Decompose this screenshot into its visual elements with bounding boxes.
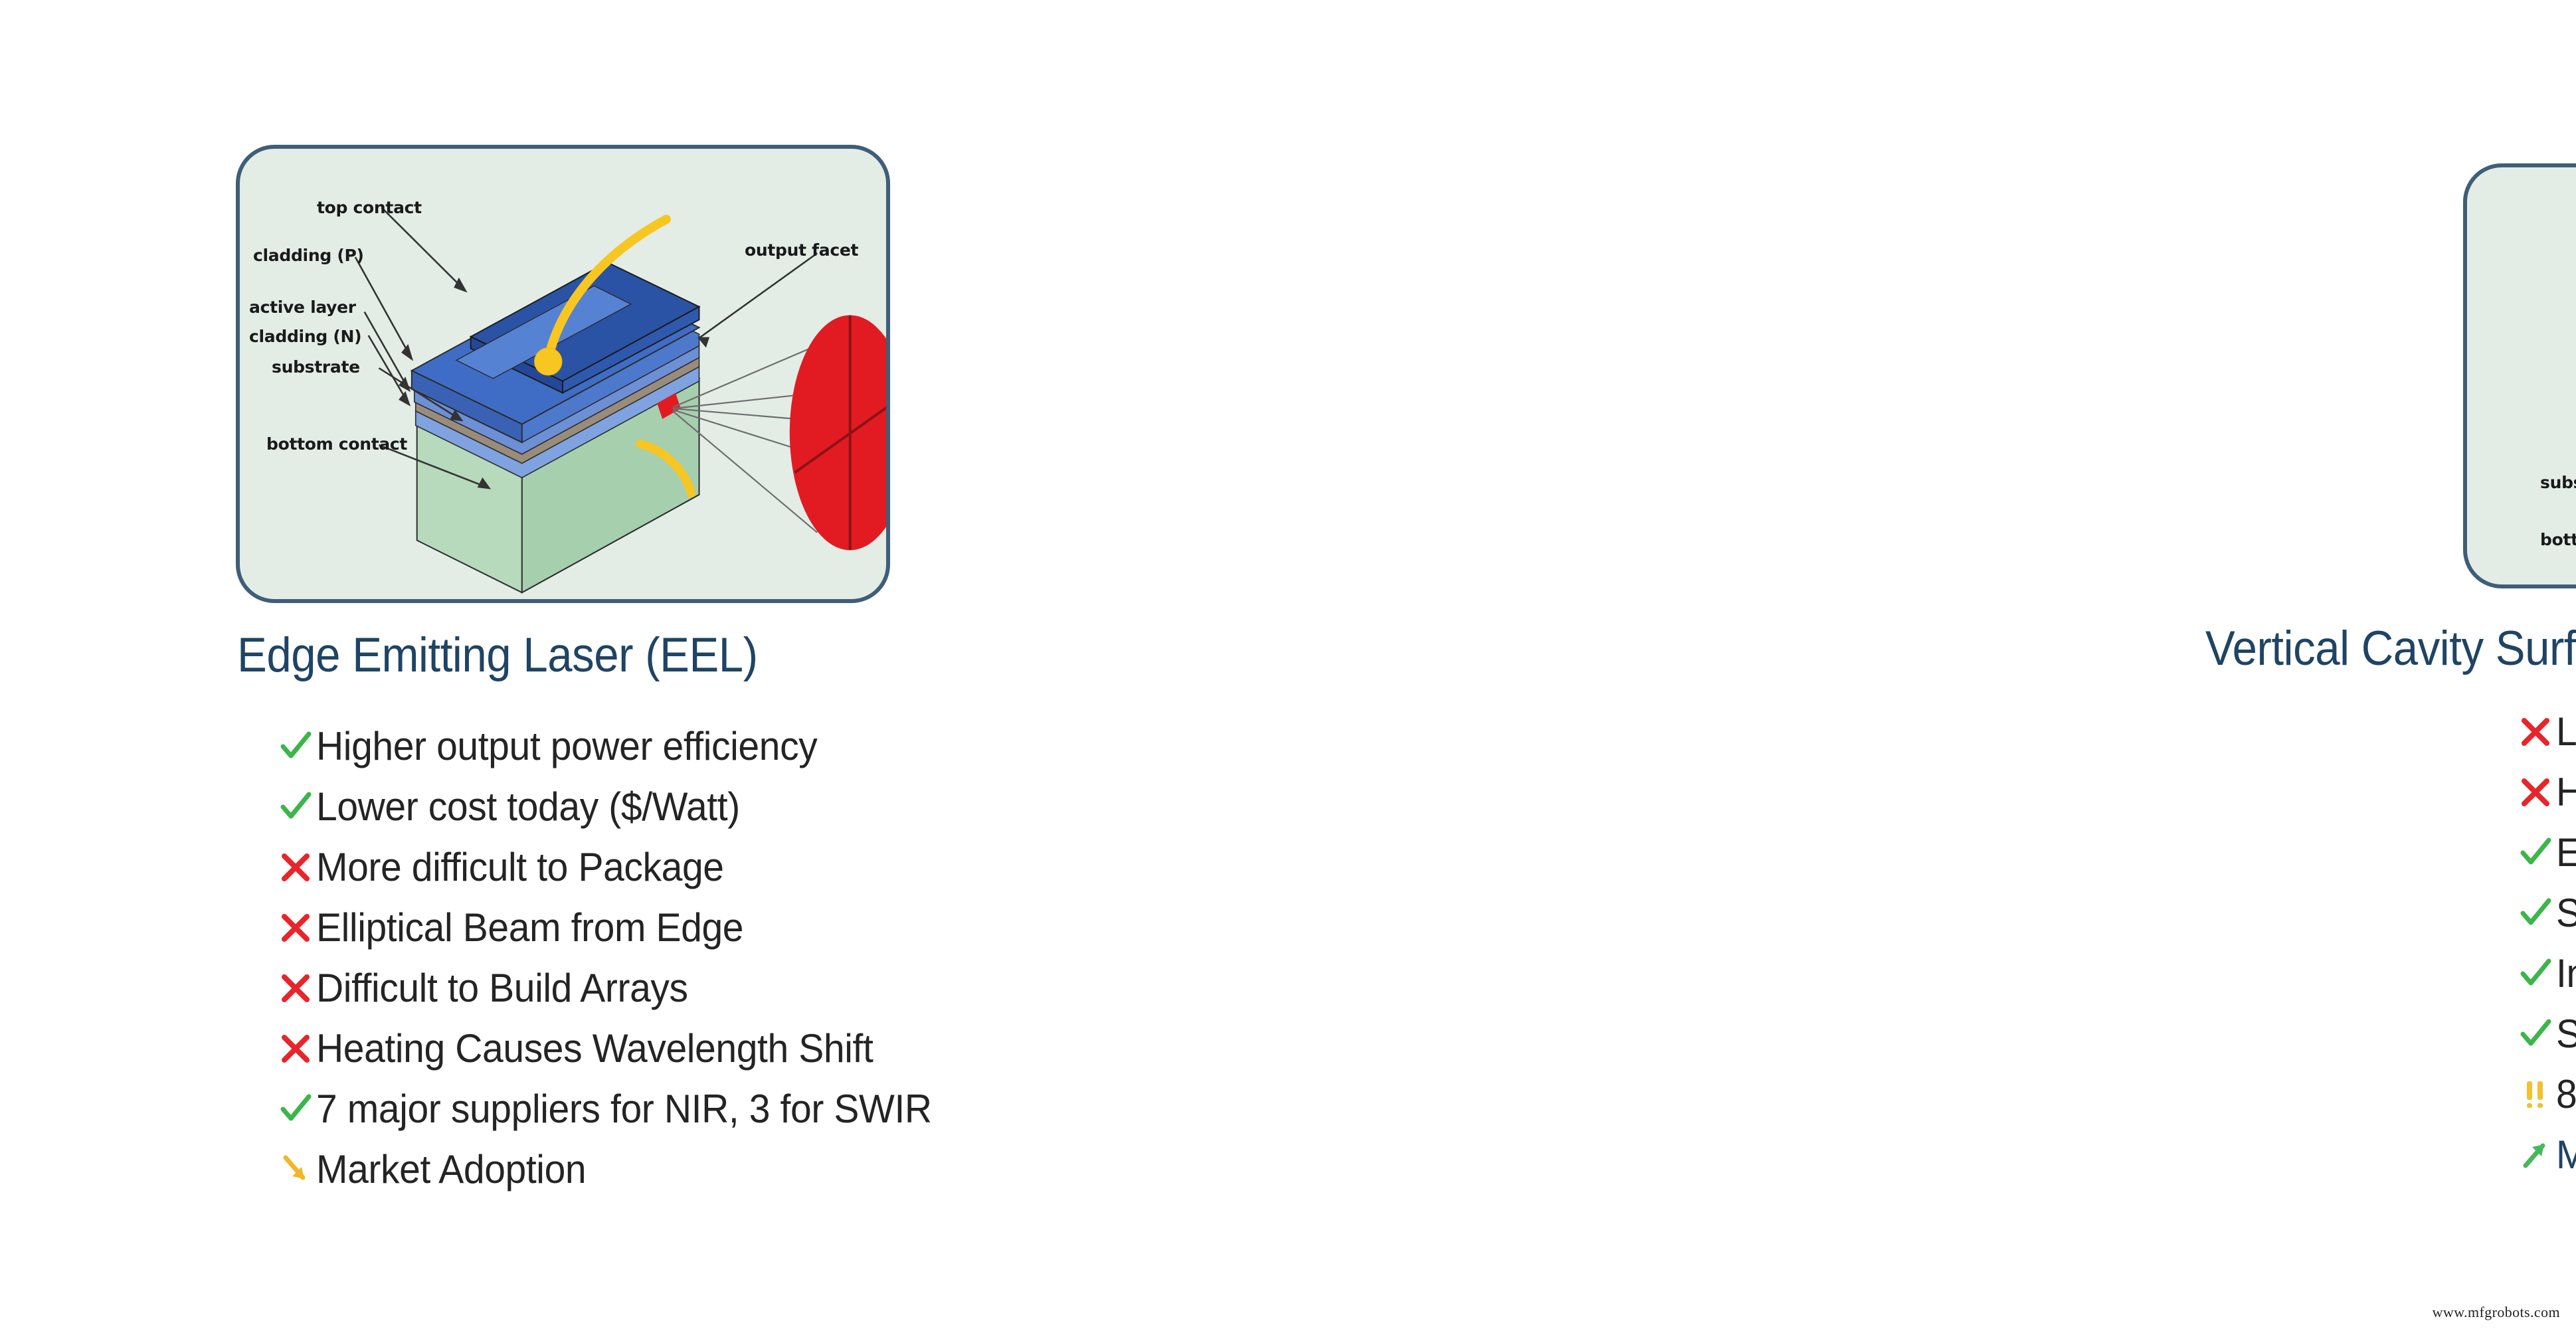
list-item: More difficult to Package	[279, 837, 964, 897]
vcsel-bullet-list: Lower output power efficiency Higher cos…	[2519, 701, 2576, 1185]
check-icon	[279, 1079, 316, 1139]
list-item: Market Adoption	[2519, 1124, 2576, 1185]
cross-icon	[279, 1018, 316, 1079]
list-item: Easier to Package	[2519, 822, 2576, 883]
cross-icon	[279, 837, 316, 897]
list-item-label: Symmetrical Beam from Surface	[2556, 883, 2576, 943]
cross-icon	[279, 897, 316, 958]
eel-title: Edge Emitting Laser (EEL)	[237, 628, 758, 683]
list-item: Higher output power efficiency	[279, 716, 964, 776]
list-item-label: More difficult to Package	[316, 837, 724, 897]
cross-icon	[2519, 762, 2556, 822]
diagram-label-bottom-contact: bottom contact	[2540, 530, 2576, 549]
list-item: Market Adoption	[279, 1139, 964, 1199]
check-icon	[279, 776, 316, 837]
arrow-up-right-icon	[2519, 1124, 2556, 1185]
list-item: Lower output power efficiency	[2519, 701, 2576, 762]
diagram-label-bottom-contact: bottom contact	[266, 434, 407, 454]
list-item: Integrated Arrays Available	[2519, 943, 2576, 1004]
diagram-label-output-facet: output facet	[745, 240, 858, 260]
watermark: www.mfgrobots.com	[2433, 1304, 2560, 1321]
eel-diagram-card: top contact cladding (P) output facet ac…	[236, 145, 890, 603]
list-item-label: Market Adoption	[2556, 1124, 2576, 1185]
diagram-label-substrate: substrate	[2540, 473, 2576, 492]
arrow-down-right-icon	[279, 1139, 316, 1199]
cross-icon	[2519, 701, 2556, 762]
list-item-label: Lower output power efficiency	[2556, 701, 2576, 762]
list-item: Difficult to Build Arrays	[279, 958, 964, 1018]
double-exclamation-icon	[2519, 1064, 2556, 1124]
list-item-label: Difficult to Build Arrays	[316, 958, 688, 1018]
check-icon	[279, 716, 316, 776]
list-item: Higher cost today ($/Watt)	[2519, 762, 2576, 822]
diagram-label-cladding-p: cladding (P)	[253, 246, 364, 265]
vcsel-diagram-card: top contact grating mirrors active layer…	[2463, 163, 2576, 588]
diagram-label-top-contact: top contact	[317, 198, 422, 217]
check-icon	[2519, 1004, 2556, 1064]
eel-bullet-list: Higher output power efficiency Lower cos…	[279, 716, 964, 1199]
diagram-label-cladding-n: cladding (N)	[249, 327, 361, 346]
diagram-label-active-layer: active layer	[249, 298, 356, 317]
list-item-label: Lower cost today ($/Watt)	[316, 776, 740, 837]
list-item-label: Higher output power efficiency	[316, 716, 817, 776]
list-item-label: 8 major suppliers for NIR, only 1 for SW…	[2556, 1064, 2576, 1124]
diagram-label-substrate: substrate	[272, 357, 360, 377]
list-item-label: 7 major suppliers for NIR, 3 for SWIR	[316, 1079, 932, 1139]
check-icon	[2519, 943, 2556, 1004]
check-icon	[2519, 883, 2556, 943]
list-item: Symmetrical Beam from Surface	[2519, 883, 2576, 943]
list-item-label: Higher cost today ($/Watt)	[2556, 762, 2576, 822]
vcsel-title: Vertical Cavity Surface Emitting Laser (…	[2205, 621, 2576, 676]
list-item-label: Integrated Arrays Available	[2556, 943, 2576, 1004]
list-item: Lower cost today ($/Watt)	[279, 776, 964, 837]
check-icon	[2519, 822, 2556, 883]
list-item-label: Elliptical Beam from Edge	[316, 897, 743, 958]
cross-icon	[279, 958, 316, 1018]
list-item: Heating Causes Wavelength Shift	[279, 1018, 964, 1079]
list-item-label: Market Adoption	[316, 1139, 586, 1199]
list-item-label: Heating Causes Wavelength Shift	[316, 1018, 873, 1079]
list-item-label: Stable over Temperatures	[2556, 1004, 2576, 1064]
list-item: 7 major suppliers for NIR, 3 for SWIR	[279, 1079, 964, 1139]
list-item: 8 major suppliers for NIR, only 1 for SW…	[2519, 1064, 2576, 1124]
list-item: Stable over Temperatures	[2519, 1004, 2576, 1064]
list-item-label: Easier to Package	[2556, 822, 2576, 883]
list-item: Elliptical Beam from Edge	[279, 897, 964, 958]
vcsel-diagram-illustration	[2467, 167, 2576, 584]
